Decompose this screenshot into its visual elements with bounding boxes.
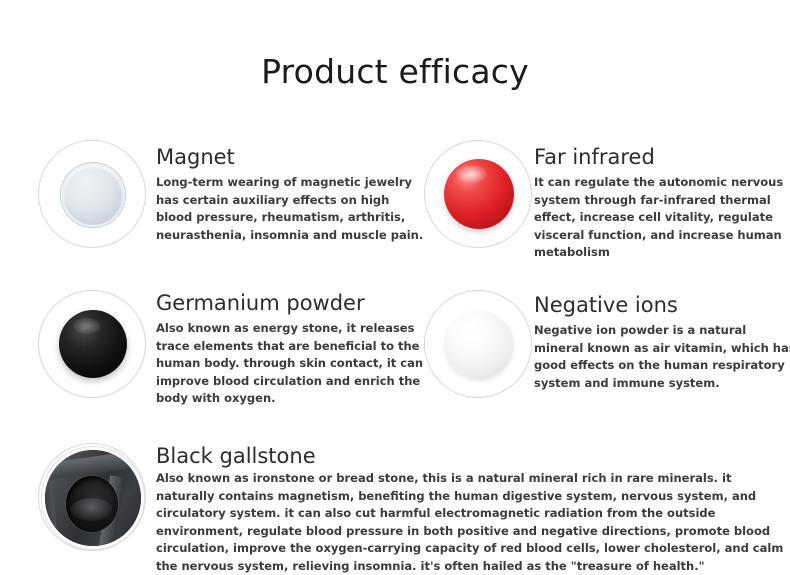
feature-description-far-infrared: It can regulate the autonomic nervous sy… — [534, 174, 790, 262]
feature-title-germanium-powder: Germanium powder — [156, 290, 426, 316]
feature-description-negative-ions: Negative ion powder is a natural mineral… — [534, 322, 790, 392]
feature-title-black-gallstone: Black gallstone — [156, 443, 786, 469]
feature-block-far-infrared: Far infrared It can regulate the autonom… — [424, 140, 790, 255]
feature-text-far-infrared: Far infrared It can regulate the autonom… — [534, 144, 790, 262]
feature-text-black-gallstone: Black gallstone Also known as ironstone … — [156, 443, 786, 575]
stone-hole — [66, 476, 118, 532]
feature-description-germanium-powder: Also known as energy stone, it releases … — [156, 320, 426, 408]
page-title: Product efficacy — [0, 52, 790, 91]
feature-block-black-gallstone: Black gallstone Also known as ironstone … — [38, 443, 778, 568]
germanium-icon-frame — [38, 290, 146, 398]
feature-text-negative-ions: Negative ions Negative ion powder is a n… — [534, 292, 790, 392]
feature-block-germanium-powder: Germanium powder Also known as energy st… — [38, 290, 418, 405]
far-infrared-icon-frame — [424, 140, 532, 248]
feature-title-magnet: Magnet — [156, 144, 426, 170]
red-sphere-icon — [444, 159, 514, 229]
negative-ions-icon-frame — [424, 290, 532, 398]
feature-block-magnet: Magnet Long-term wearing of magnetic jew… — [38, 140, 418, 255]
magnet-disc-icon — [61, 163, 125, 227]
black-stone-photo-icon — [42, 447, 144, 549]
feature-title-negative-ions: Negative ions — [534, 292, 790, 318]
feature-description-magnet: Long-term wearing of magnetic jewelry ha… — [156, 174, 426, 244]
feature-block-negative-ions: Negative ions Negative ion powder is a n… — [424, 290, 790, 405]
magnet-icon-frame — [38, 140, 146, 248]
black-sphere-icon — [59, 310, 127, 378]
feature-text-germanium-powder: Germanium powder Also known as energy st… — [156, 290, 426, 408]
white-sphere-icon — [445, 311, 513, 379]
feature-description-black-gallstone: Also known as ironstone or bread stone, … — [156, 470, 786, 575]
feature-text-magnet: Magnet Long-term wearing of magnetic jew… — [156, 144, 426, 244]
feature-title-far-infrared: Far infrared — [534, 144, 790, 170]
black-gallstone-icon-frame — [38, 443, 146, 551]
